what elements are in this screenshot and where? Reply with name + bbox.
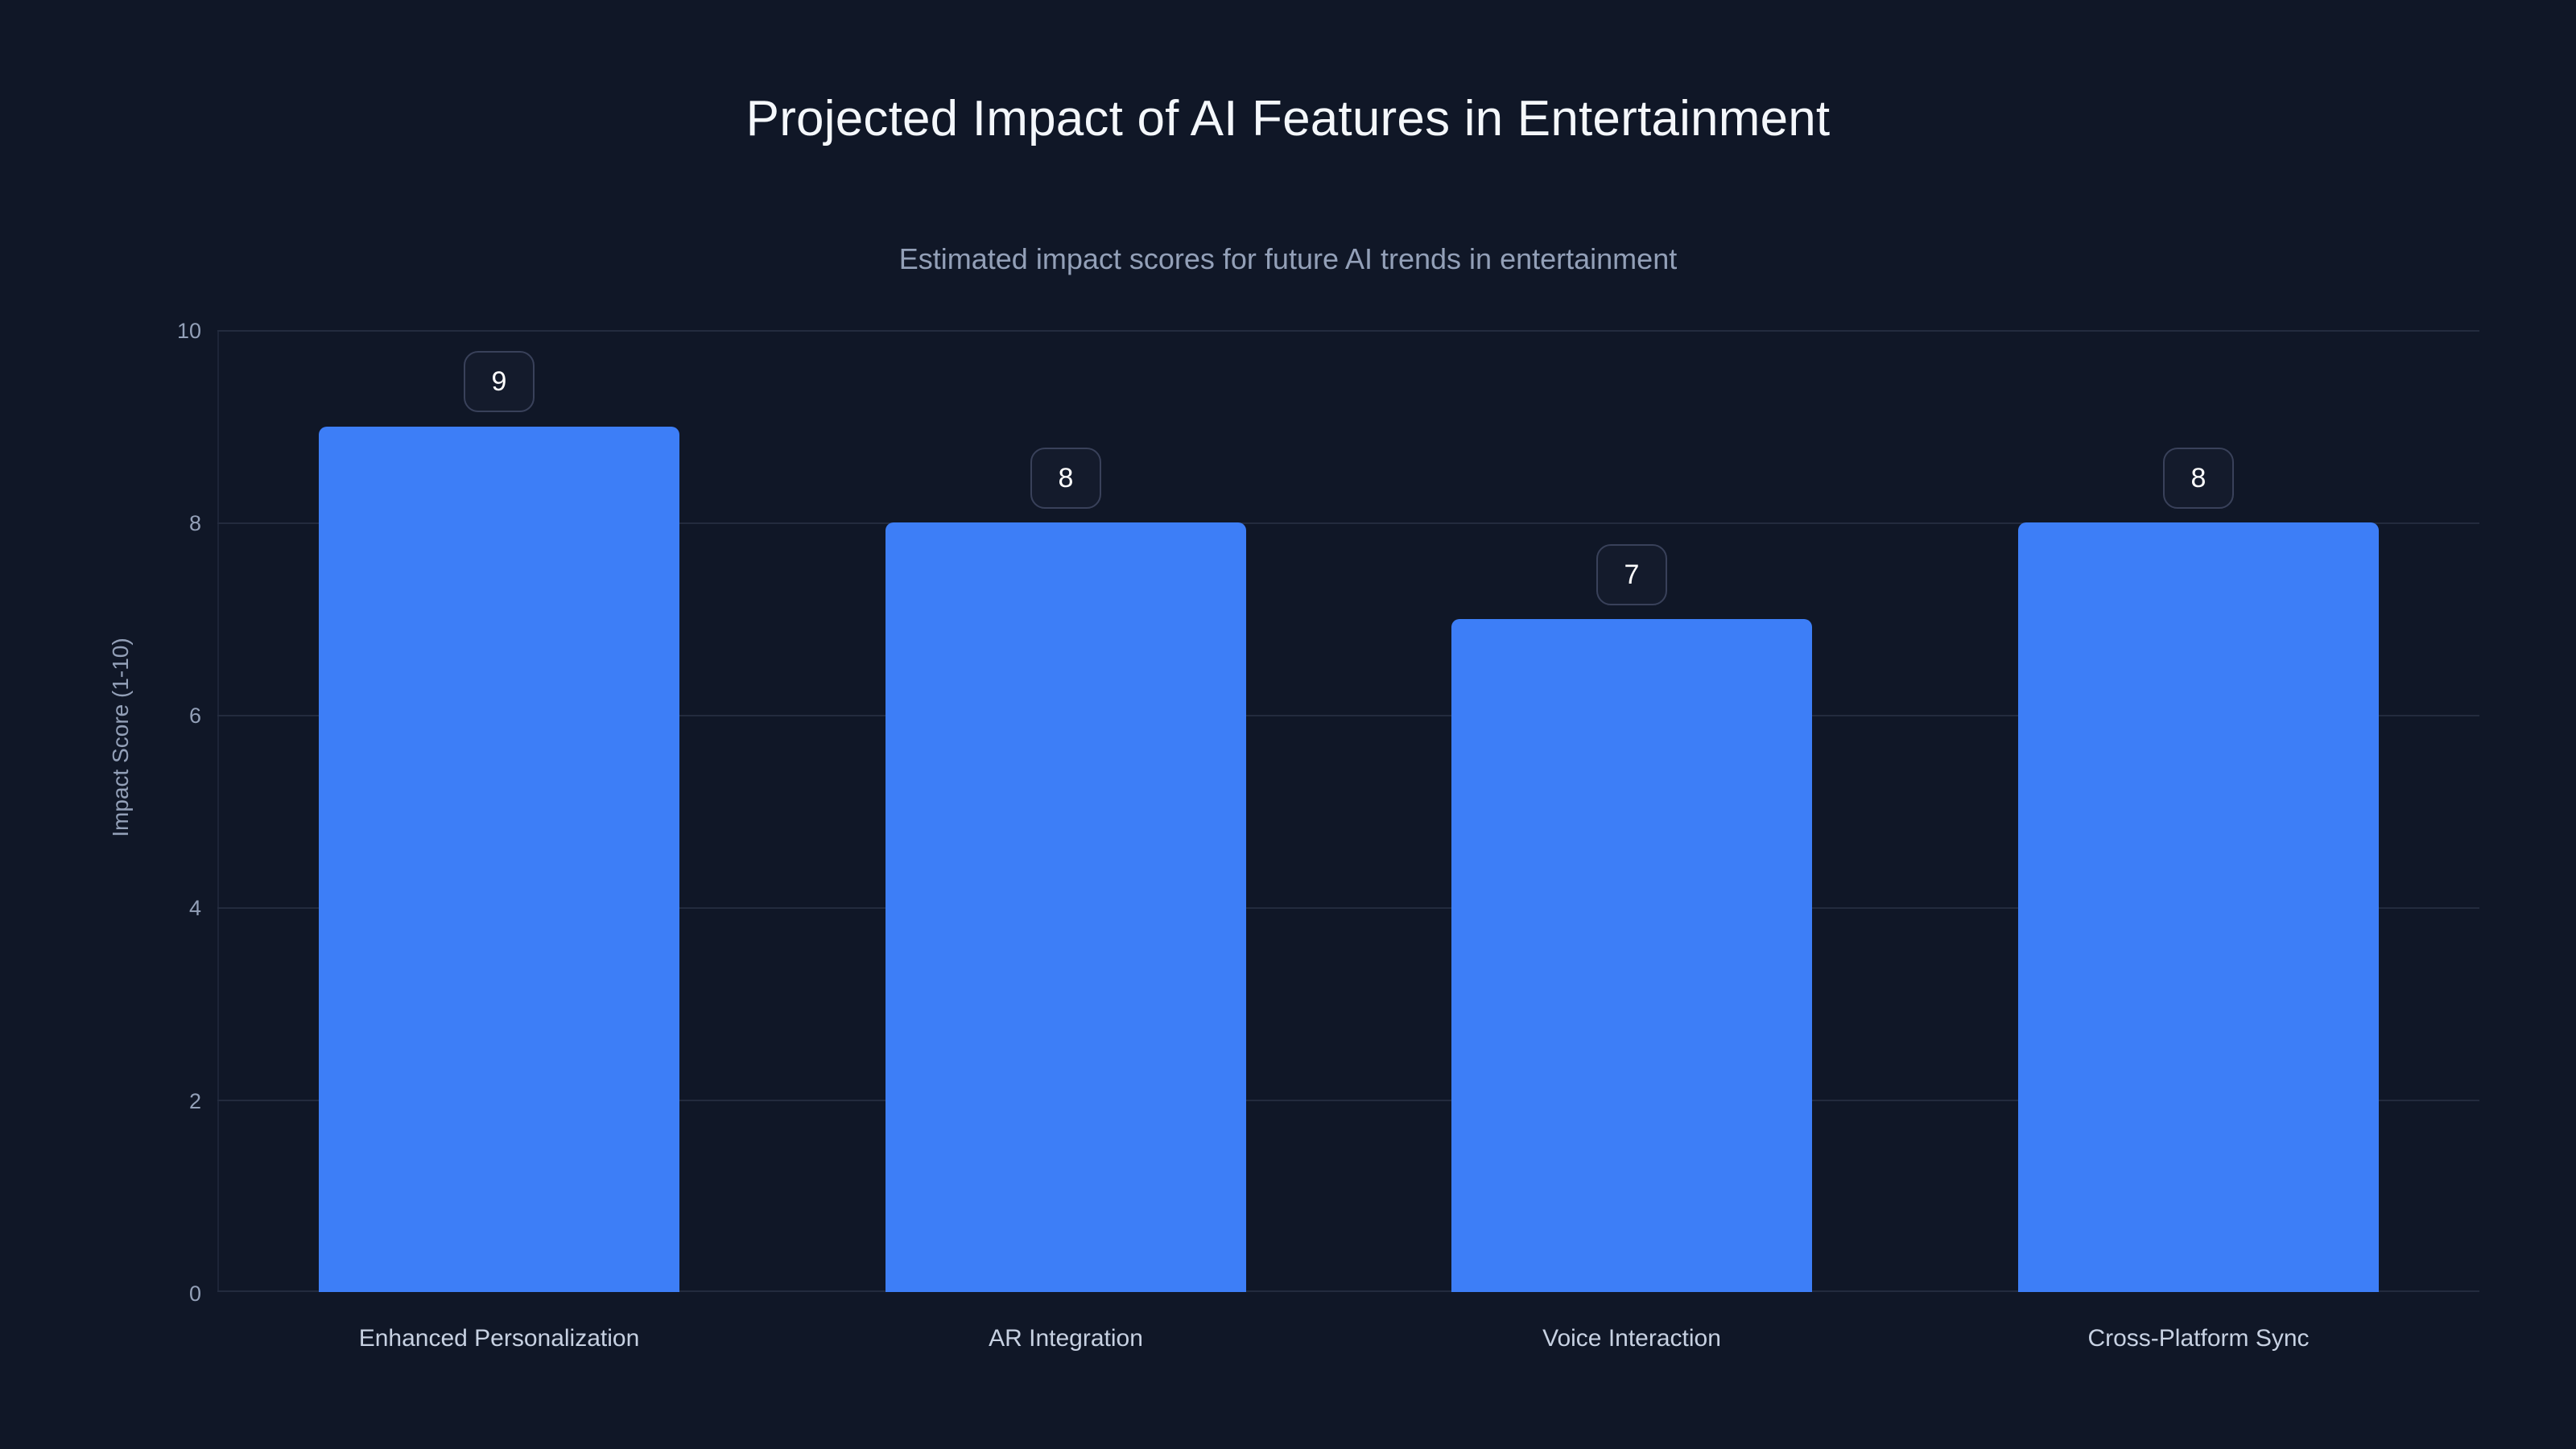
value-badge-enhanced-personalization: 9	[464, 351, 535, 412]
y-tick-label-0: 0	[105, 1283, 201, 1305]
bar-cross-platform-sync[interactable]	[2018, 522, 2379, 1292]
value-badge-voice-interaction: 7	[1596, 544, 1667, 605]
bar-ar-integration[interactable]	[885, 522, 1246, 1292]
x-tick-label-cross-platform-sync: Cross-Platform Sync	[2018, 1327, 2379, 1351]
bar-enhanced-personalization[interactable]	[319, 427, 679, 1292]
y-tick-label-6: 6	[105, 705, 201, 727]
chart-title: Projected Impact of AI Features in Enter…	[0, 92, 2576, 147]
plot-area	[217, 330, 2479, 1292]
y-tick-label-4: 4	[105, 898, 201, 919]
bar-chart-canvas: Projected Impact of AI Features in Enter…	[0, 0, 2576, 1449]
chart-subtitle: Estimated impact scores for future AI tr…	[0, 243, 2576, 275]
x-tick-label-enhanced-personalization: Enhanced Personalization	[319, 1327, 679, 1351]
y-tick-label-8: 8	[105, 513, 201, 535]
y-axis-title: Impact Score (1-10)	[108, 592, 134, 882]
y-tick-label-2: 2	[105, 1091, 201, 1113]
gridline-10	[217, 330, 2479, 332]
bar-voice-interaction[interactable]	[1451, 619, 1812, 1292]
x-tick-label-voice-interaction: Voice Interaction	[1451, 1327, 1812, 1351]
value-badge-cross-platform-sync: 8	[2163, 448, 2234, 509]
value-badge-ar-integration: 8	[1030, 448, 1101, 509]
y-tick-label-10: 10	[105, 320, 201, 342]
x-tick-label-ar-integration: AR Integration	[885, 1327, 1246, 1351]
